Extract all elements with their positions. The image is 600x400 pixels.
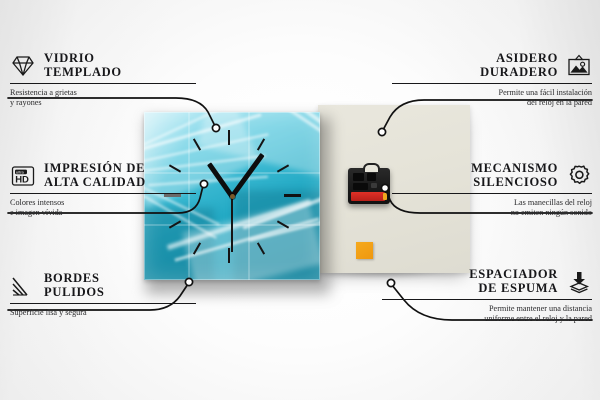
callout-asidero-duradero: ASIDERO DURADERO Permite una fácil insta…: [392, 52, 592, 108]
picture-hanger-icon: [566, 54, 592, 78]
mechanism-button: [367, 173, 376, 181]
mechanism-battery: [351, 192, 385, 201]
polished-edges-icon: [10, 274, 36, 298]
callout-desc: Permite una fácil instalación del reloj …: [392, 88, 592, 108]
callout-mecanismo-silencioso: MECANISMO SILENCIOSO Las manecillas del …: [392, 162, 592, 218]
callout-desc: Las manecillas del reloj no emiten ningú…: [392, 198, 592, 218]
clock-mechanism: [348, 168, 390, 204]
mechanism-hanger-icon: [363, 163, 380, 172]
callout-desc: Permite mantener una distancia uniforme …: [382, 304, 592, 324]
callout-desc: Superficie lisa y segura: [10, 308, 196, 318]
foam-spacer: [356, 242, 373, 259]
diamond-icon: [10, 54, 36, 78]
callout-title: ESPACIADOR DE ESPUMA: [469, 268, 558, 295]
callout-title: IMPRESIÓN DE ALTA CALIDAD: [44, 162, 146, 189]
ultra-hd-icon: ultra HD: [10, 164, 36, 188]
callout-title: MECANISMO SILENCIOSO: [471, 162, 558, 189]
callout-rule: [10, 83, 196, 84]
callout-rule: [392, 193, 592, 194]
mechanism-button: [353, 173, 364, 181]
callout-title: BORDES PULIDOS: [44, 272, 104, 299]
callout-desc: Resistencia a grietas y rayones: [10, 88, 196, 108]
gear-icon: [566, 164, 592, 188]
foam-spacer-icon: [566, 270, 592, 294]
svg-text:HD: HD: [15, 174, 29, 185]
callout-rule: [10, 193, 196, 194]
callout-rule: [10, 303, 196, 304]
callout-rule: [382, 299, 592, 300]
callout-title: VIDRIO TEMPLADO: [44, 52, 122, 79]
callout-title: ASIDERO DURADERO: [480, 52, 558, 79]
callout-bordes-pulidos: BORDES PULIDOS Superficie lisa y segura: [10, 272, 196, 318]
callout-vidrio-templado: VIDRIO TEMPLADO Resistencia a grietas y …: [10, 52, 196, 108]
mechanism-button: [353, 183, 368, 190]
callout-rule: [392, 83, 592, 84]
callout-desc: Colores intensos e imagen vívida: [10, 198, 196, 218]
infographic-canvas: VIDRIO TEMPLADO Resistencia a grietas y …: [0, 0, 600, 400]
mechanism-button: [371, 183, 377, 188]
callout-espaciador-de-espuma: ESPACIADOR DE ESPUMA Permite mantener un…: [382, 268, 592, 324]
callout-impresion-alta-calidad: ultra HD IMPRESIÓN DE ALTA CALIDAD Color…: [10, 162, 196, 218]
